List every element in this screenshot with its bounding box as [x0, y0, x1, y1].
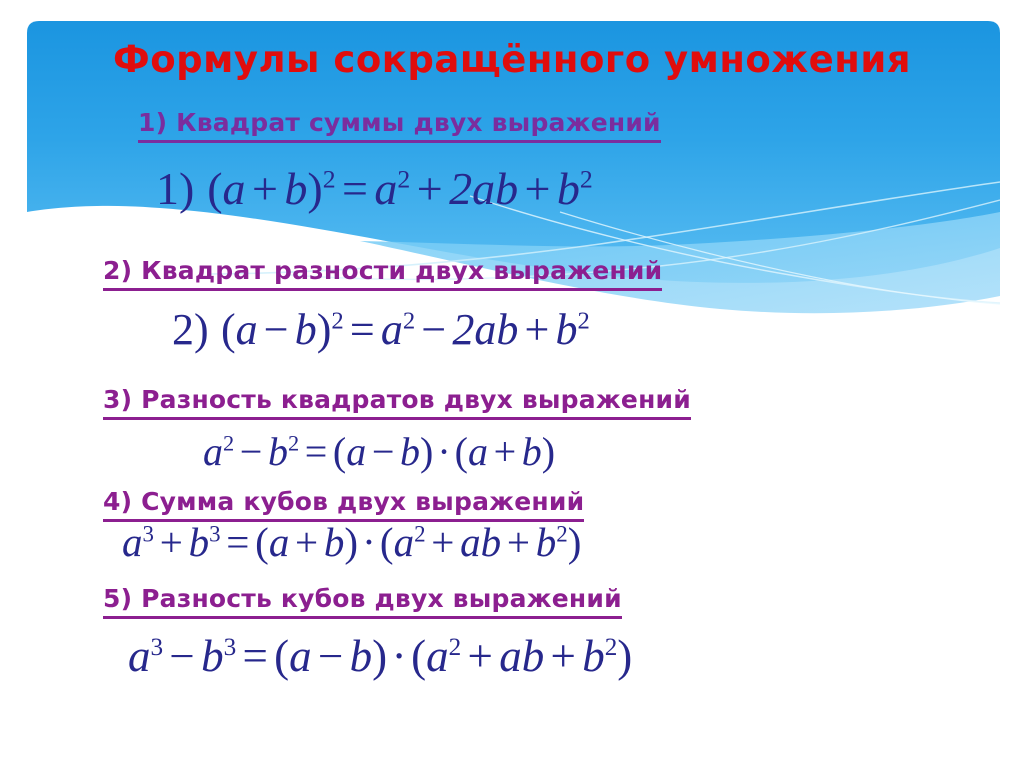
- formula-4-lhs-op: +: [154, 519, 189, 565]
- formula-3-group1-op: −: [366, 429, 400, 474]
- formula-4-multiply-dot: ·: [358, 519, 380, 565]
- formula-4-group2-b-exponent: 2: [556, 521, 567, 546]
- formula-4-group2-b-base: b: [536, 519, 557, 565]
- formula-2-term1-exponent: 2: [403, 307, 415, 334]
- heading-section-3: 3) Разность квадратов двух выражений: [103, 385, 691, 424]
- formula-1-lhs-a: a: [223, 163, 246, 214]
- formula-3-group1-b: b: [400, 429, 420, 474]
- formula-5-group2-b-exponent: 2: [605, 634, 618, 661]
- formula-1-equals: =: [336, 163, 375, 214]
- formula-3-group1-a: a: [346, 429, 366, 474]
- formula-4: a3+b3=(a+b)·(a2+ab+b2): [122, 522, 581, 563]
- formula-1-lhs-exponent: 2: [323, 165, 336, 194]
- formula-5-multiply-dot: ·: [387, 631, 411, 681]
- formula-4-group2-op2: +: [501, 519, 536, 565]
- formula-3-lhs2-exponent: 2: [288, 431, 299, 456]
- formula-5-lhs2-exponent: 3: [224, 634, 237, 661]
- heading-section-5-label: 5) Разность кубов двух выражений: [103, 584, 622, 619]
- formula-5: a3−b3=(a−b)·(a2+ab+b2): [128, 634, 632, 679]
- formula-5-equals: =: [236, 631, 274, 681]
- formula-5-group1-a: a: [289, 631, 312, 681]
- heading-section-2-label: 2) Квадрат разности двух выражений: [103, 256, 662, 291]
- heading-section-5: 5) Разность кубов двух выражений: [103, 584, 622, 623]
- formula-1-term3-base: b: [557, 163, 580, 214]
- formula-5-group2-op1: +: [461, 631, 499, 681]
- formula-5-lhs-op: −: [163, 631, 201, 681]
- formula-5-group2-a-base: a: [426, 631, 449, 681]
- formula-4-group1-open: (: [255, 519, 269, 565]
- formula-2-term3-exponent: 2: [577, 307, 589, 334]
- formula-5-group1-close: ): [372, 631, 387, 681]
- formula-1-close-paren: ): [307, 163, 322, 214]
- formula-3-equals: =: [299, 429, 333, 474]
- formula-4-group2-a-base: a: [394, 519, 415, 565]
- formula-3: a2−b2=(a−b)·(a+b): [203, 432, 555, 472]
- formula-2-lhs-a: a: [236, 305, 258, 354]
- formula-2-op2: +: [518, 305, 555, 354]
- formula-2-equals: =: [344, 305, 381, 354]
- formula-1-index: 1): [156, 163, 194, 214]
- formula-5-lhs1-base: a: [128, 631, 151, 681]
- formula-4-equals: =: [221, 519, 256, 565]
- formula-5-group1-open: (: [274, 631, 289, 681]
- formula-2-open-paren: (: [221, 305, 236, 354]
- formula-4-group1-b: b: [324, 519, 345, 565]
- formula-1: 1)(a+b)2=a2+2ab+b2: [156, 166, 593, 212]
- formula-4-group2-open: (: [380, 519, 394, 565]
- heading-section-3-label: 3) Разность квадратов двух выражений: [103, 385, 691, 420]
- formula-5-group2-a-exponent: 2: [449, 634, 462, 661]
- formula-3-group1-open: (: [333, 429, 346, 474]
- formula-3-lhs1-base: a: [203, 429, 223, 474]
- heading-section-1-label: 1) Квадрат суммы двух выражений: [138, 108, 661, 143]
- formula-2-lhs-op: −: [258, 305, 295, 354]
- formula-5-group2-open: (: [411, 631, 426, 681]
- formula-3-lhs-op: −: [234, 429, 268, 474]
- formula-1-term1-base: a: [374, 163, 397, 214]
- formula-1-lhs-b: b: [284, 163, 307, 214]
- formula-5-lhs1-exponent: 3: [151, 634, 164, 661]
- heading-section-1: 1) Квадрат суммы двух выражений: [138, 108, 661, 147]
- formula-3-lhs2-base: b: [268, 429, 288, 474]
- formula-1-term3-exponent: 2: [580, 165, 593, 194]
- heading-section-4-label: 4) Сумма кубов двух выражений: [103, 487, 584, 522]
- page-title: Формулы сокращённого умножения: [0, 38, 1024, 81]
- formula-2-term3-base: b: [555, 305, 577, 354]
- formula-1-term1-exponent: 2: [397, 165, 410, 194]
- formula-5-group2-close: ): [617, 631, 632, 681]
- formula-5-group2-op2: +: [544, 631, 582, 681]
- formula-1-lhs-op: +: [246, 163, 285, 214]
- formula-1-op1: +: [410, 163, 449, 214]
- formula-2-lhs-b: b: [295, 305, 317, 354]
- formula-3-group2-a: a: [468, 429, 488, 474]
- formula-3-group2-close: ): [542, 429, 555, 474]
- formula-4-group1-close: ): [344, 519, 358, 565]
- formula-2-op1: −: [415, 305, 452, 354]
- formula-5-group2-b-base: b: [582, 631, 605, 681]
- formula-4-group2-a-exponent: 2: [414, 521, 425, 546]
- formula-4-group1-a: a: [269, 519, 290, 565]
- formula-3-multiply-dot: ·: [433, 429, 454, 474]
- formula-1-open-paren: (: [207, 163, 222, 214]
- formula-2-close-paren: ): [317, 305, 332, 354]
- formula-5-lhs2-base: b: [201, 631, 224, 681]
- formula-4-group2-close: ): [568, 519, 582, 565]
- formula-3-group2-op: +: [488, 429, 522, 474]
- formula-4-group2-op1: +: [426, 519, 461, 565]
- formula-1-term2: 2ab: [449, 163, 518, 214]
- formula-5-group1-op: −: [312, 631, 350, 681]
- formula-2-index: 2): [172, 305, 209, 354]
- formula-5-group2-ab: ab: [499, 631, 544, 681]
- formula-4-lhs2-base: b: [189, 519, 210, 565]
- formula-4-lhs2-exponent: 3: [209, 521, 220, 546]
- formula-3-group1-close: ): [420, 429, 433, 474]
- heading-section-2: 2) Квадрат разности двух выражений: [103, 256, 662, 295]
- formula-4-lhs1-exponent: 3: [143, 521, 154, 546]
- formula-3-lhs1-exponent: 2: [223, 431, 234, 456]
- formula-4-lhs1-base: a: [122, 519, 143, 565]
- formula-4-group2-ab: ab: [460, 519, 501, 565]
- formula-5-group1-b: b: [350, 631, 373, 681]
- formula-2-term2: 2ab: [452, 305, 518, 354]
- formula-3-group2-b: b: [522, 429, 542, 474]
- formula-2-term1-base: a: [381, 305, 403, 354]
- formula-2: 2)(a−b)2=a2−2ab+b2: [172, 308, 590, 352]
- formula-3-group2-open: (: [455, 429, 468, 474]
- formula-1-op2: +: [518, 163, 557, 214]
- formula-2-lhs-exponent: 2: [331, 307, 343, 334]
- formula-4-group1-op: +: [289, 519, 324, 565]
- slide-canvas: Формулы сокращённого умножения 1) Квадра…: [0, 0, 1024, 767]
